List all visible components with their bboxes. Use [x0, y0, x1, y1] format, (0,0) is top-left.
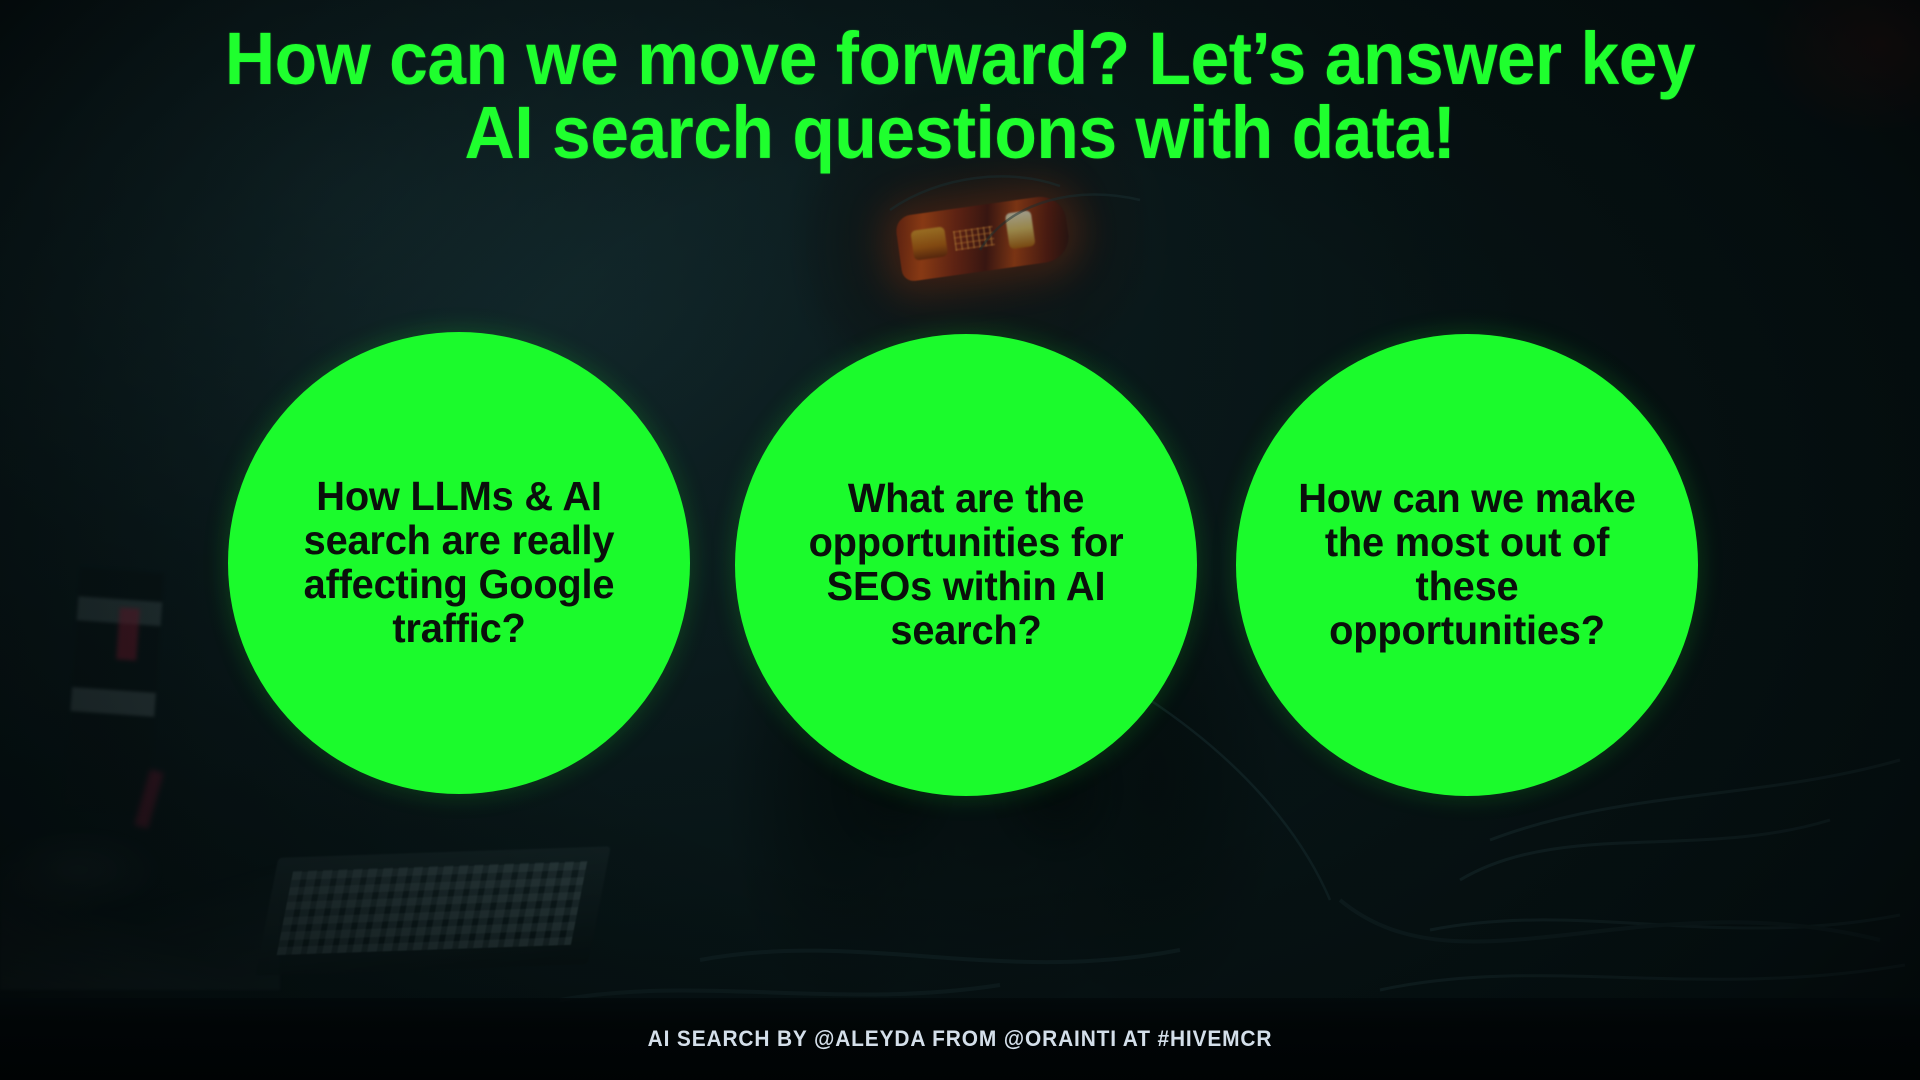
footer-credit: AI SEARCH BY @ALEYDA FROM @ORAINTI AT #H… [48, 998, 1872, 1080]
slide-canvas: How can we move forward? Let’s answer ke… [0, 0, 1920, 1080]
question-circle-group: How LLMs & AI search are really affectin… [0, 332, 1920, 802]
slide-title: How can we move forward? Let’s answer ke… [58, 22, 1863, 170]
question-circle-1[interactable]: How LLMs & AI search are really affectin… [228, 332, 690, 794]
question-circle-3-label: How can we make the most out of these op… [1288, 477, 1647, 652]
question-circle-2-label: What are the opportunities for SEOs with… [787, 477, 1146, 652]
question-circle-3[interactable]: How can we make the most out of these op… [1236, 334, 1698, 796]
question-circle-2[interactable]: What are the opportunities for SEOs with… [735, 334, 1197, 796]
question-circle-1-label: How LLMs & AI search are really affectin… [280, 475, 639, 650]
